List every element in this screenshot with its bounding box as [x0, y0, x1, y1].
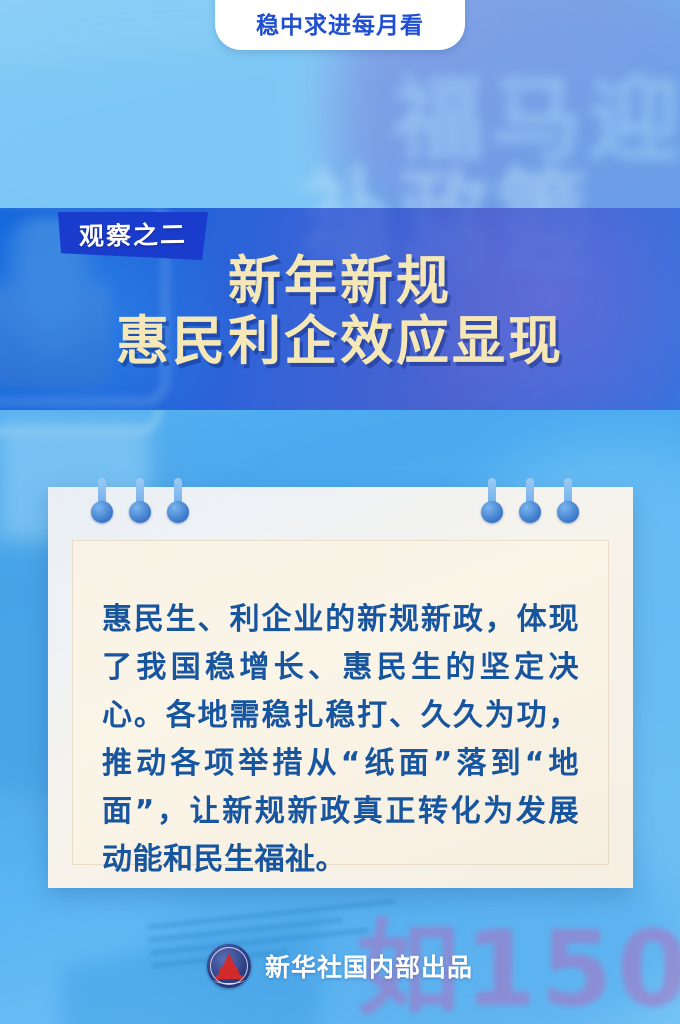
notepad-pin: [524, 478, 536, 523]
program-badge-label: 稳中求进每月看: [256, 6, 424, 40]
note-body-text: 惠民生、利企业的新规新政，体现了我国稳增长、惠民生的坚定决心。各地需稳扎稳打、久…: [102, 596, 579, 884]
xinhua-logo-icon: [207, 944, 251, 988]
headline-line-2: 惠民利企效应显现: [0, 310, 680, 372]
notepad-pin: [96, 478, 108, 523]
program-badge[interactable]: 稳中求进每月看: [215, 0, 465, 50]
note-paper: 惠民生、利企业的新规新政，体现了我国稳增长、惠民生的坚定决心。各地需稳扎稳打、久…: [72, 540, 609, 865]
notepad-pin: [134, 478, 146, 523]
notepad-pins: [0, 478, 680, 528]
footer: 新华社国内部出品: [0, 938, 680, 994]
page-title: 新年新规 惠民利企效应显现: [0, 252, 680, 372]
notepad-pin: [486, 478, 498, 523]
headline-line-1: 新年新规: [0, 252, 680, 310]
notepad-pin: [562, 478, 574, 523]
series-tag-label: 观察之二: [79, 215, 187, 253]
poster-root: 福马迎 补政策 如1500 福马迎 稳中求进每月看 观察之二 新年新规 惠民利企…: [0, 0, 680, 1024]
note-card: 惠民生、利企业的新规新政，体现了我国稳增长、惠民生的坚定决心。各地需稳扎稳打、久…: [48, 487, 633, 888]
notepad-pin: [172, 478, 184, 523]
footer-producer-label: 新华社国内部出品: [265, 948, 473, 984]
